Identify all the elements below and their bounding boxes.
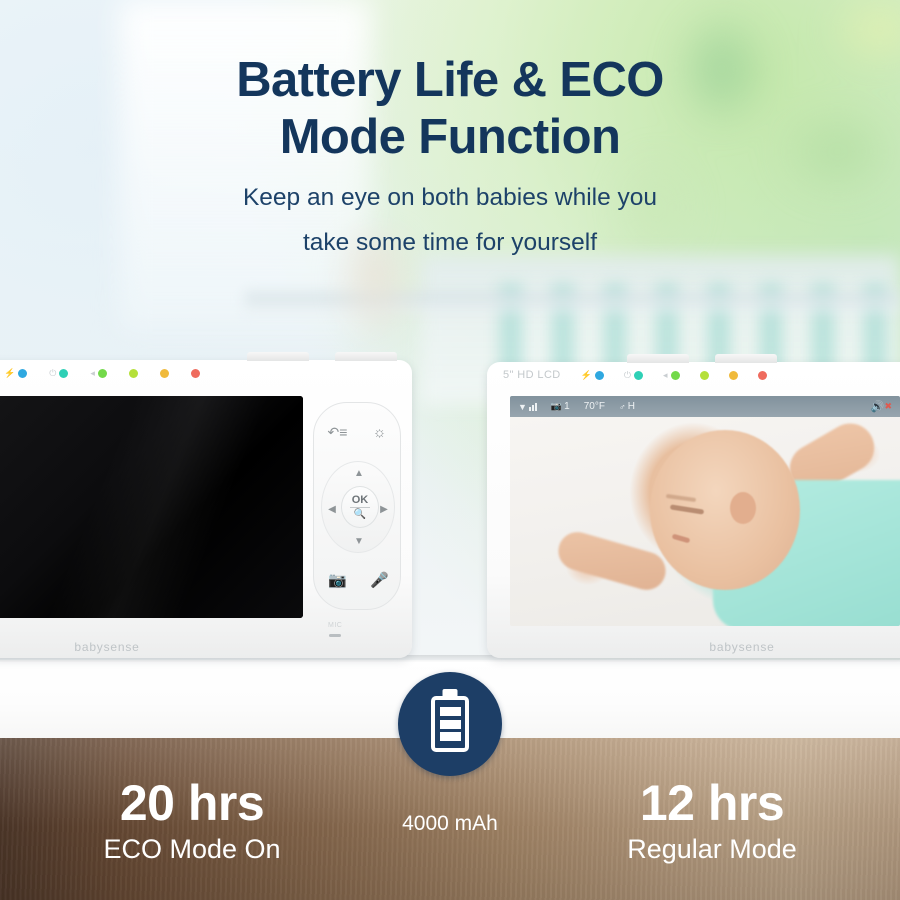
ok-button[interactable]: OK 🔍 <box>341 486 379 528</box>
dpad-down-button[interactable]: ▼ <box>349 534 369 548</box>
sound-led-group: ◂ <box>90 369 107 378</box>
sound-level-2-led <box>129 369 138 378</box>
page-subtitle: Keep an eye on both babies while you tak… <box>0 175 900 265</box>
subtitle-line-1: Keep an eye on both babies while you <box>0 175 900 220</box>
humidity-icon: ♂ <box>619 402 626 412</box>
dpad-right-button[interactable]: ▶ <box>377 501 391 517</box>
stat-regular-label: Regular Mode <box>542 832 882 866</box>
sound-level-2-led <box>700 371 709 380</box>
stat-eco-mode: 20 hrs ECO Mode On <box>22 775 362 866</box>
mic-label: MIC <box>328 622 342 629</box>
stat-eco-label: ECO Mode On <box>22 832 362 866</box>
menu-back-button[interactable]: ↶≡ <box>317 406 358 458</box>
charging-led <box>18 369 27 378</box>
right-monitor-screen[interactable]: ▼ 📷 1 70°F ♂ H 🔊 ✖ <box>510 396 900 626</box>
baby-camera-feed <box>510 417 900 626</box>
power-led <box>634 371 643 380</box>
speaker-icon: ◂ <box>90 369 95 378</box>
camera-icon: 📷 <box>551 401 562 412</box>
stat-eco-value: 20 hrs <box>22 775 362 831</box>
sound-level-4-led <box>758 371 767 380</box>
sound-led-group: ◂ <box>663 371 680 380</box>
muted-speaker-icon: 🔊 ✖ <box>871 400 892 413</box>
charging-led <box>595 371 604 380</box>
page-title: Battery Life & ECO Mode Function <box>0 52 900 166</box>
right-baby-monitor: 5" HD LCD ⚡ ⏻ ◂ <box>487 362 900 658</box>
left-monitor-brand: babysense <box>0 640 322 654</box>
zoom-icon: 🔍 <box>354 509 366 520</box>
left-monitor-control-pad: ↶≡ ☼ ▲ ▼ ◀ ▶ OK 🔍 📷 🎤 <box>313 402 401 610</box>
ok-button-label: OK <box>352 494 369 506</box>
subtitle-line-2: take some time for yourself <box>0 220 900 265</box>
sound-level-3-led <box>729 371 738 380</box>
battery-cell <box>440 732 461 741</box>
left-baby-monitor: ⚡ ⏻ ◂ ↶≡ ☼ ▲ ▼ <box>0 360 412 658</box>
power-led-group: ⏻ <box>49 369 68 378</box>
baby-left-arm <box>554 528 670 595</box>
product-feature-image: Battery Life & ECO Mode Function Keep an… <box>0 0 900 900</box>
signal-strength <box>529 402 537 411</box>
signal-bars-icon: ▼ <box>518 402 537 412</box>
charging-led-group: ⚡ <box>581 371 604 380</box>
sound-level-3-led <box>160 369 169 378</box>
microphone-button[interactable]: 🎤 <box>359 554 400 606</box>
power-icon: ⏻ <box>49 369 56 378</box>
power-icon: ⏻ <box>624 371 631 380</box>
camera-pan-button[interactable]: 📷 <box>317 554 358 606</box>
right-led-indicator-strip: 5" HD LCD ⚡ ⏻ ◂ <box>487 362 900 388</box>
battery-cell <box>440 707 461 716</box>
ok-divider <box>350 507 370 508</box>
battery-cell <box>440 720 461 729</box>
stat-regular-mode: 12 hrs Regular Mode <box>542 775 882 866</box>
screen-size-label: 5" HD LCD <box>503 369 561 381</box>
title-line-2: Mode Function <box>0 109 900 166</box>
stat-regular-value: 12 hrs <box>542 775 882 831</box>
left-led-indicator-strip: ⚡ ⏻ ◂ <box>0 360 412 386</box>
sound-led <box>98 369 107 378</box>
sound-level-4-led <box>191 369 200 378</box>
lullaby-light-button[interactable]: ☼ <box>359 406 400 458</box>
dpad-up-button[interactable]: ▲ <box>349 466 369 480</box>
left-monitor-screen[interactable] <box>0 396 303 618</box>
lightning-icon: ⚡ <box>581 371 592 380</box>
power-led <box>59 369 68 378</box>
sound-led <box>671 371 680 380</box>
camera-count: 1 <box>564 401 570 412</box>
humidity-reading: ♂ H <box>619 401 635 412</box>
dpad-left-button[interactable]: ◀ <box>325 501 339 517</box>
humidity-value: H <box>628 401 635 412</box>
direction-pad[interactable]: ▲ ▼ ◀ ▶ OK 🔍 <box>321 461 395 553</box>
battery-badge <box>398 672 502 776</box>
camera-status-bar: ▼ 📷 1 70°F ♂ H 🔊 ✖ <box>510 396 900 417</box>
camera-channel: 📷 1 <box>551 401 570 412</box>
right-monitor-brand: babysense <box>527 640 900 654</box>
battery-icon <box>431 696 469 752</box>
battery-capacity: 4000 mAh <box>330 812 570 836</box>
lightning-icon: ⚡ <box>4 369 15 378</box>
speaker-icon: ◂ <box>663 371 668 380</box>
mic-slot <box>329 634 341 637</box>
charging-led-group: ⚡ <box>4 369 27 378</box>
title-line-1: Battery Life & ECO <box>0 52 900 109</box>
power-led-group: ⏻ <box>624 371 643 380</box>
temperature-reading: 70°F <box>584 401 605 412</box>
